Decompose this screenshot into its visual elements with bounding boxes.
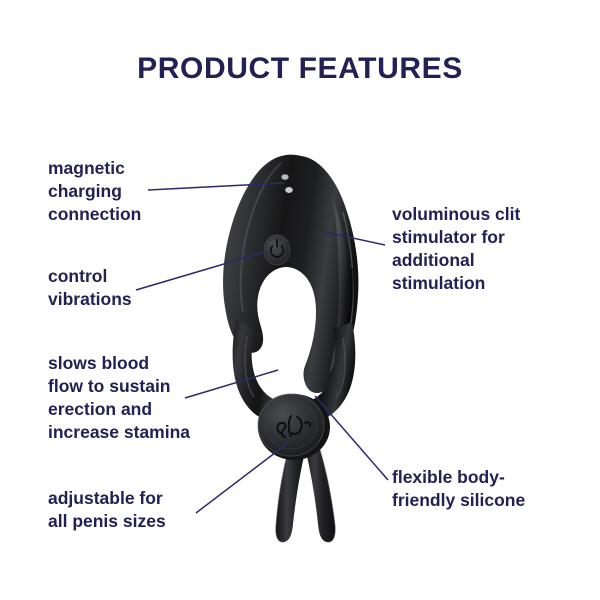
callout-line: flow to sustain xyxy=(48,375,190,398)
callout-line: erection and xyxy=(48,398,190,421)
callout-magnetic-charging-connection: magnetic charging connection xyxy=(48,157,141,226)
callout-line: stimulation xyxy=(392,272,520,295)
callout-flexible-body-friendly-silicone: flexible body- friendly silicone xyxy=(392,466,525,512)
callout-line: increase stamina xyxy=(48,421,190,444)
callout-line: control xyxy=(48,265,132,288)
product-features-infographic: PRODUCT FEATURES xyxy=(0,0,600,600)
callout-line: charging xyxy=(48,180,141,203)
callout-line: stimulator for xyxy=(392,226,520,249)
callout-line: flexible body- xyxy=(392,466,525,489)
callout-line: adjustable for xyxy=(48,487,166,510)
callout-line: additional xyxy=(392,249,520,272)
callout-adjustable-for-all-sizes: adjustable for all penis sizes xyxy=(48,487,166,533)
callout-line: connection xyxy=(48,203,141,226)
logo-disc xyxy=(258,394,330,460)
callout-slows-blood-flow: slows blood flow to sustain erection and… xyxy=(48,352,190,444)
callout-control-vibrations: control vibrations xyxy=(48,265,132,311)
callout-voluminous-clit-stimulator: voluminous clit stimulator for additiona… xyxy=(392,203,520,295)
callout-line: slows blood xyxy=(48,352,190,375)
power-button[interactable] xyxy=(264,235,290,265)
callout-line: voluminous clit xyxy=(392,203,520,226)
callout-line: all penis sizes xyxy=(48,510,166,533)
callout-line: magnetic xyxy=(48,157,141,180)
callout-line: friendly silicone xyxy=(392,489,525,512)
callout-line: vibrations xyxy=(48,288,132,311)
